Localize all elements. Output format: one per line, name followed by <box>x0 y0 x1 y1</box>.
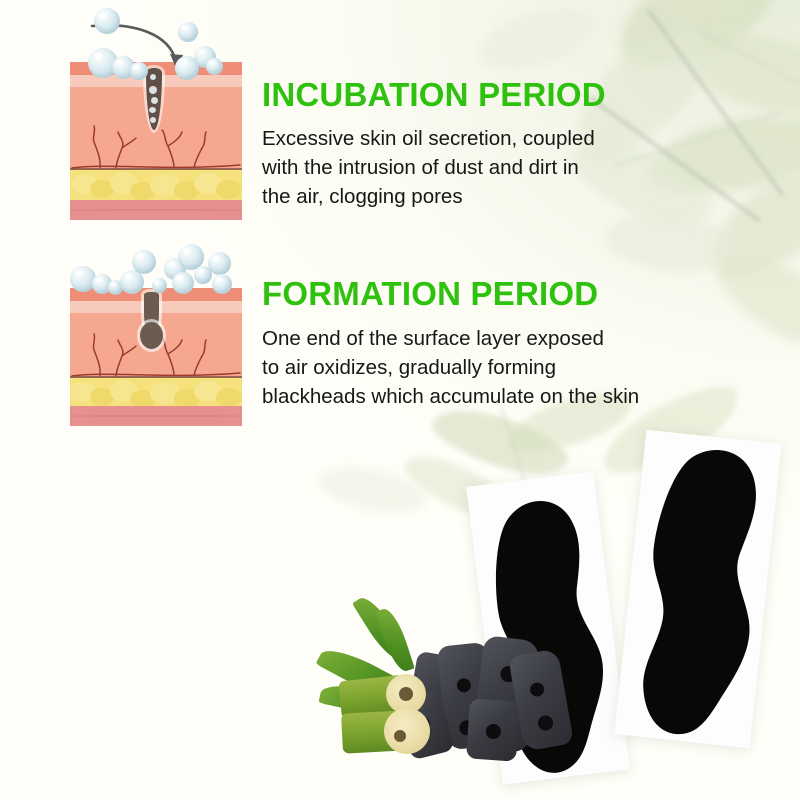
body-line: One end of the surface layer exposed <box>262 324 692 353</box>
water-bubble <box>206 58 223 75</box>
section-body-incubation: Excessive skin oil secretion, coupled wi… <box>262 124 652 211</box>
illustration-incubation <box>60 0 260 230</box>
leaf-shadow <box>644 107 800 202</box>
water-bubble <box>130 62 148 80</box>
leaf-shadow <box>706 234 800 365</box>
body-line: to air oxidizes, gradually forming <box>262 353 692 382</box>
leaf-shadow <box>471 0 600 80</box>
bamboo-cut-end <box>384 708 430 754</box>
water-bubble <box>208 252 231 275</box>
ingredient-bamboo-charcoal <box>318 616 578 800</box>
body-line: the air, clogging pores <box>262 182 652 211</box>
nose-strip-right[interactable] <box>608 426 800 751</box>
water-bubble <box>94 8 120 34</box>
body-line: with the intrusion of dust and dirt in <box>262 153 652 182</box>
branch-shadow <box>699 30 800 103</box>
charcoal-piece <box>466 698 520 761</box>
water-bubble <box>178 22 198 42</box>
leaf-shadow <box>693 151 800 293</box>
leaf-shadow <box>683 17 800 129</box>
section-heading-incubation: INCUBATION PERIOD <box>262 78 606 111</box>
water-bubble <box>152 278 167 293</box>
illustration-formation <box>60 238 260 433</box>
branch-shadow <box>647 9 785 197</box>
leaf-shadow <box>602 0 797 86</box>
leaf-shadow <box>315 457 431 522</box>
muscle-layer <box>70 406 242 426</box>
water-bubble <box>172 272 194 294</box>
leaf-shadow <box>600 203 738 283</box>
blackhead-plug-bulb <box>140 322 163 349</box>
infographic-canvas: INCUBATION PERIOD Excessive skin oil sec… <box>0 0 800 800</box>
section-body-formation: One end of the surface layer exposed to … <box>262 324 692 411</box>
water-bubble <box>132 250 156 274</box>
water-bubble <box>212 274 232 294</box>
body-line: blackheads which accumulate on the skin <box>262 382 692 411</box>
section-heading-formation: FORMATION PERIOD <box>262 277 598 310</box>
body-line: Excessive skin oil secretion, coupled <box>262 124 652 153</box>
muscle-layer <box>70 200 242 220</box>
